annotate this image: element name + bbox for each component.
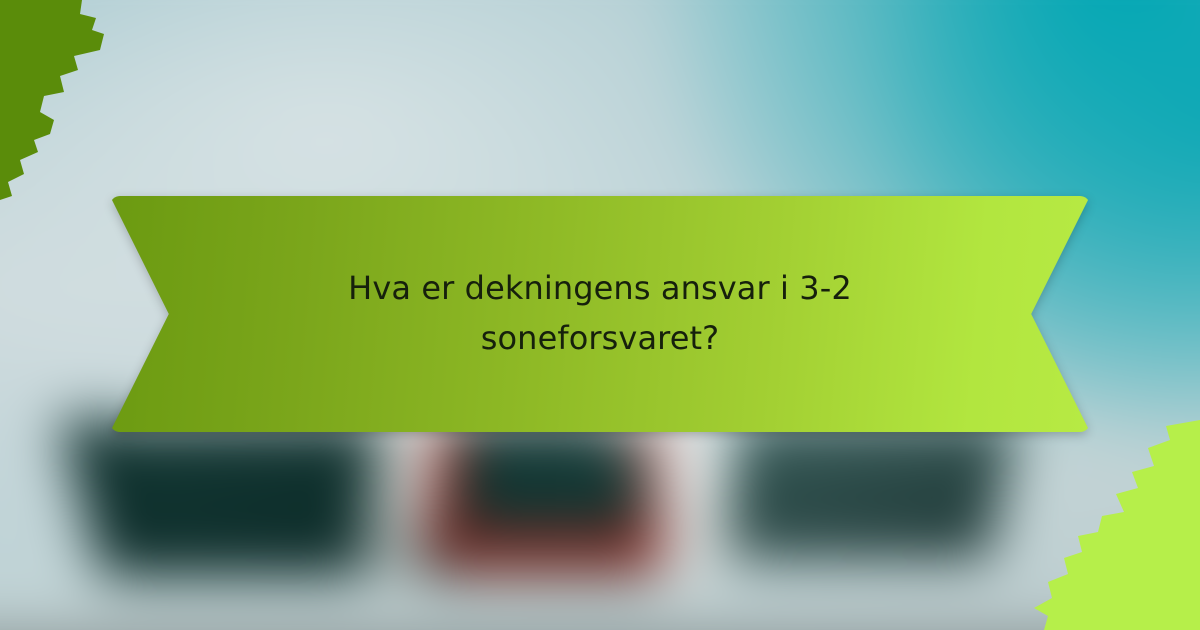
question-banner: Hva er dekningens ansvar i 3-2 soneforsv… xyxy=(110,196,1090,432)
question-card: Hva er dekningens ansvar i 3-2 soneforsv… xyxy=(0,0,1200,630)
question-line-2: soneforsvaret? xyxy=(481,320,720,358)
background-dark-right xyxy=(713,421,1018,559)
question-text-block: Hva er dekningens ansvar i 3-2 soneforsv… xyxy=(110,196,1090,432)
background-red-base xyxy=(452,534,664,570)
background-ground xyxy=(0,626,1194,630)
background-hoop-center xyxy=(483,445,642,547)
question-line-1: Hva er dekningens ansvar i 3-2 xyxy=(348,270,852,308)
